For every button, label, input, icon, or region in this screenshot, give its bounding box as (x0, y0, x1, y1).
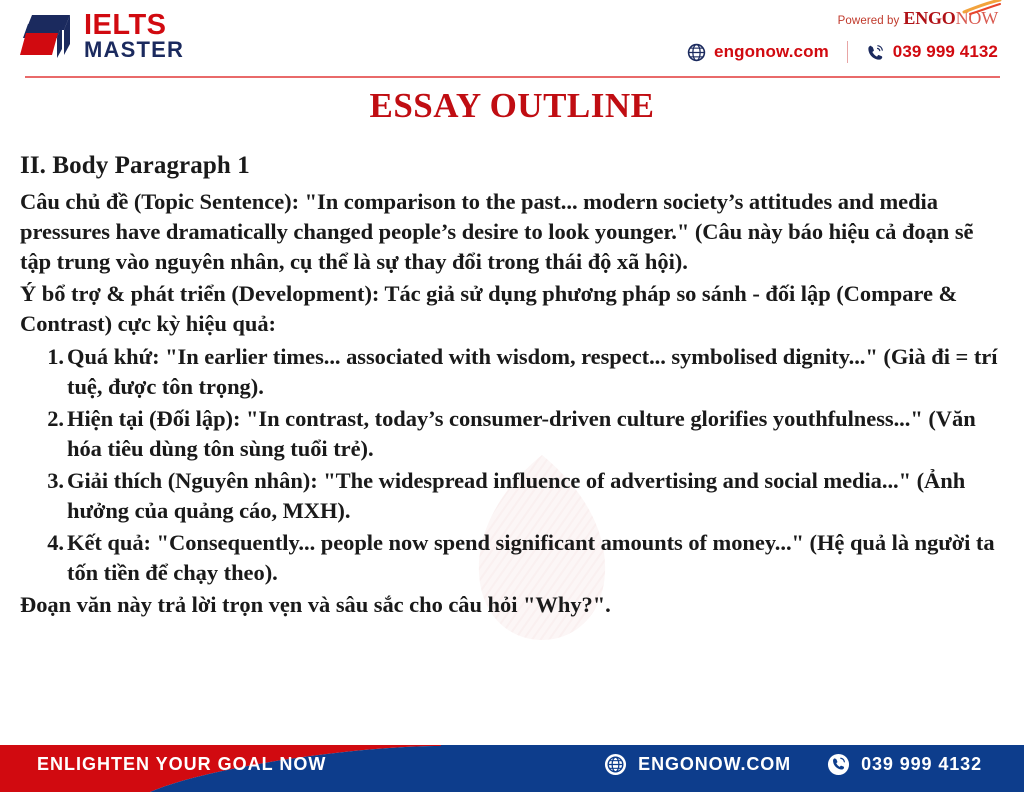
header-divider (25, 76, 1000, 78)
list-item-number: 2. (38, 404, 64, 434)
essay-outline-slide: IELTS MASTER Powered by ENGO NOW (0, 0, 1024, 792)
globe-icon (687, 43, 706, 62)
brand-logo[interactable]: IELTS MASTER (18, 8, 184, 64)
header-website-label: engonow.com (714, 42, 829, 62)
header-phone[interactable]: 039 999 4132 (866, 42, 998, 62)
footer-phone-label: 039 999 4132 (861, 754, 982, 775)
list-item-text: Hiện tại (Đối lập): "In contrast, today’… (67, 406, 976, 461)
list-item-text: Quá khứ: "In earlier times... associated… (67, 344, 997, 399)
footer-contacts: ENGONOW.COM 039 999 4132 (604, 736, 982, 792)
development-list: 1. Quá khứ: "In earlier times... associa… (20, 342, 1006, 589)
header-contact-divider (847, 41, 848, 63)
page-header: IELTS MASTER Powered by ENGO NOW (0, 0, 1024, 78)
brand-logo-text: IELTS MASTER (84, 12, 184, 61)
engonow-bold-label: ENGO (903, 8, 955, 29)
outline-content: II. Body Paragraph 1 Câu chủ đề (Topic S… (20, 150, 1006, 620)
header-contacts: engonow.com 039 999 4132 (687, 41, 998, 63)
page-title: ESSAY OUTLINE (0, 86, 1024, 126)
list-item-text: Giải thích (Nguyên nhân): "The widesprea… (67, 468, 965, 523)
footer-website[interactable]: ENGONOW.COM (604, 753, 791, 776)
powered-by-badge: Powered by ENGO NOW (838, 8, 998, 29)
phone-icon (866, 43, 885, 62)
list-item-number: 4. (38, 528, 64, 558)
phone-icon (827, 753, 850, 776)
page-footer: ENLIGHTEN YOUR GOAL NOW ENGONOW.COM (0, 736, 1024, 792)
footer-tagline: ENLIGHTEN YOUR GOAL NOW (37, 736, 326, 792)
list-item-text: Kết quả: "Consequently... people now spe… (67, 530, 995, 585)
header-website[interactable]: engonow.com (687, 42, 829, 62)
header-phone-label: 039 999 4132 (893, 42, 998, 62)
globe-icon (604, 753, 627, 776)
list-item: 2. Hiện tại (Đối lập): "In contrast, tod… (20, 404, 1006, 465)
list-item: 3. Giải thích (Nguyên nhân): "The widesp… (20, 466, 1006, 527)
paragraph-topic-sentence: Câu chủ đề (Topic Sentence): "In compari… (20, 187, 1006, 278)
footer-website-label: ENGONOW.COM (638, 754, 791, 775)
powered-by-label: Powered by (838, 15, 900, 27)
footer-phone[interactable]: 039 999 4132 (827, 753, 982, 776)
paragraph-development: Ý bổ trợ & phát triển (Development): Tác… (20, 279, 1006, 340)
list-item-number: 3. (38, 466, 64, 496)
section-heading: II. Body Paragraph 1 (20, 150, 1006, 183)
brand-primary-label: IELTS (84, 12, 184, 40)
list-item: 4. Kết quả: "Consequently... people now … (20, 528, 1006, 589)
brand-secondary-label: MASTER (84, 39, 184, 60)
list-item-number: 1. (38, 342, 64, 372)
swoosh-icon (962, 0, 1002, 15)
closing-statement: Đoạn văn này trả lời trọn vẹn và sâu sắc… (20, 590, 1006, 620)
stacked-pages-logo-icon (18, 8, 80, 64)
list-item: 1. Quá khứ: "In earlier times... associa… (20, 342, 1006, 403)
